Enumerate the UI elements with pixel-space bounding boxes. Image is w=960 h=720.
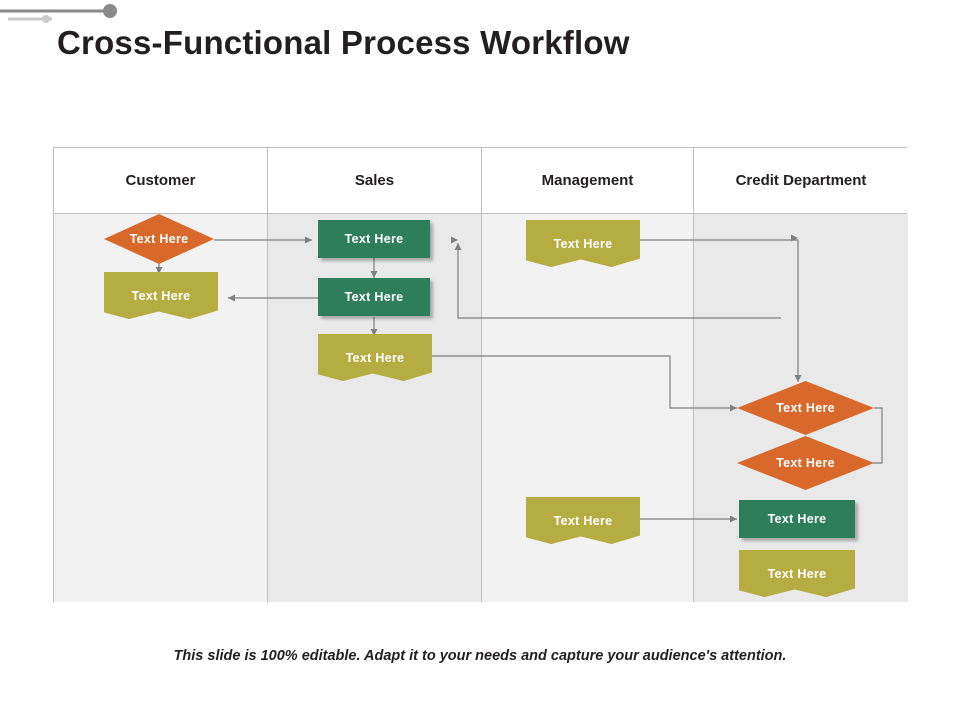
node-credit-decision-1[interactable]: Text Here xyxy=(737,381,874,435)
node-credit-process[interactable]: Text Here xyxy=(739,500,855,538)
node-customer-document[interactable]: Text Here xyxy=(104,272,218,319)
node-management-document-2[interactable]: Text Here xyxy=(526,497,640,544)
node-sales-document[interactable]: Text Here xyxy=(318,334,432,381)
node-sales-process-2[interactable]: Text Here xyxy=(318,278,430,316)
decorative-header-line xyxy=(0,0,130,26)
swimlane-diagram: Customer Sales Management Credit Departm… xyxy=(53,147,907,602)
node-credit-decision-2[interactable]: Text Here xyxy=(737,436,874,490)
node-customer-decision[interactable]: Text Here xyxy=(104,214,214,264)
node-sales-process-1[interactable]: Text Here xyxy=(318,220,430,258)
node-management-document-1[interactable]: Text Here xyxy=(526,220,640,267)
page-title: Cross-Functional Process Workflow xyxy=(57,24,630,62)
footer-note: This slide is 100% editable. Adapt it to… xyxy=(0,648,960,664)
node-credit-document[interactable]: Text Here xyxy=(739,550,855,597)
